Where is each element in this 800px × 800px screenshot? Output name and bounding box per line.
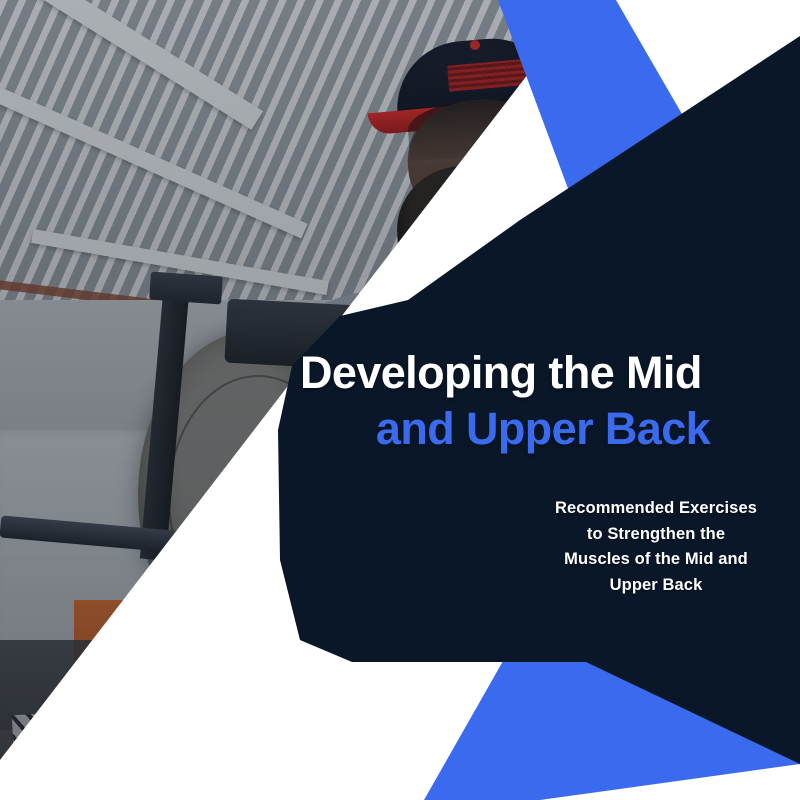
shoe-collar: [149, 703, 247, 736]
title-line-2: and Upper Back: [300, 400, 786, 458]
red-sneaker: [137, 712, 263, 800]
left-leg: [300, 740, 418, 800]
subtitle-line-1: Recommended Exercises: [520, 496, 792, 522]
title-line-1: Developing the Mid: [300, 346, 800, 400]
subtitle-line-3: Muscles of the Mid and: [520, 547, 792, 573]
red-sock: [164, 676, 230, 718]
shoe-collar: [307, 697, 408, 728]
subtitle-line-4: Upper Back: [520, 573, 792, 599]
shoe-laces: [315, 736, 396, 798]
subtitle-line-2: to Strengthen the: [520, 522, 792, 548]
red-sneaker: [298, 707, 425, 800]
poster-canvas: CONJUGATE CLUB EST. 2020: [0, 0, 800, 800]
red-sock: [322, 668, 390, 710]
poster-subtitle: Recommended Exercises to Strengthen the …: [520, 496, 792, 598]
poster-title: Developing the Mid and Upper Back: [300, 346, 800, 458]
diamond-plate-platform: [12, 709, 136, 800]
shoe-laces: [154, 739, 234, 800]
rack-leg: [140, 540, 204, 800]
forearm-tattoo: [200, 592, 291, 694]
